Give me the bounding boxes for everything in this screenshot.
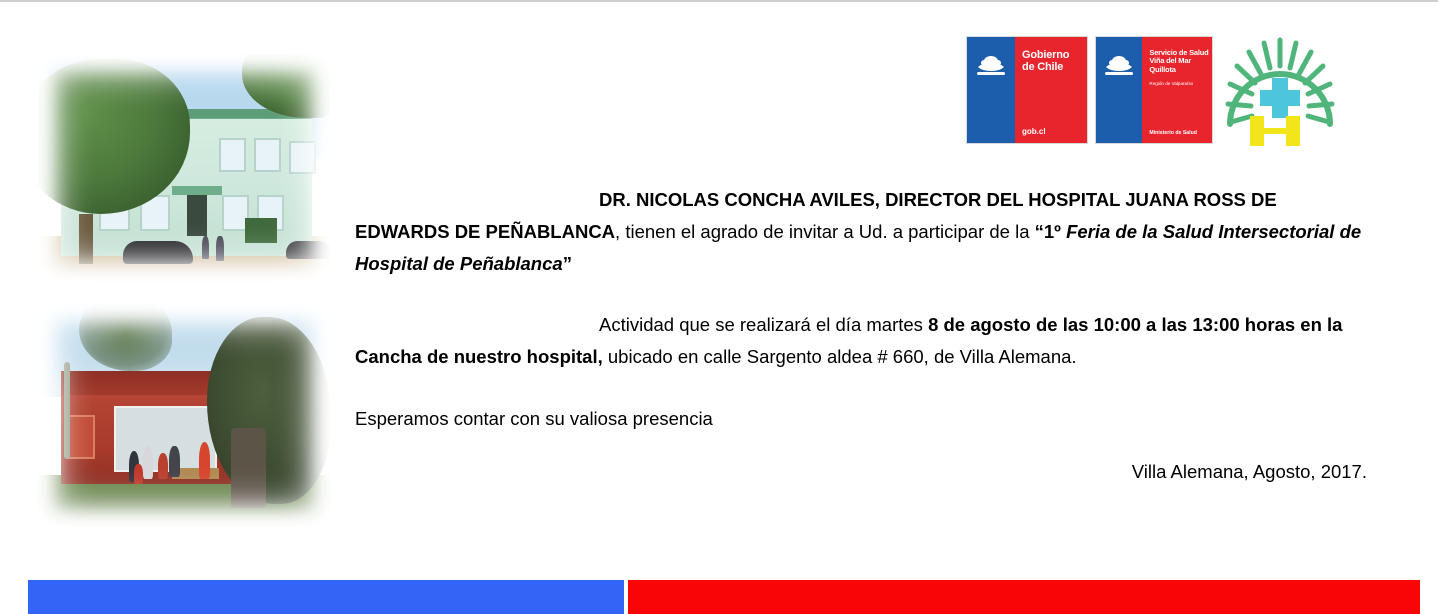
letter-h-icon [1250,116,1300,146]
color-bar-red-segment [628,580,1420,614]
invitation-body-text: DR. NICOLAS CONCHA AVILES, DIRECTOR DEL … [355,184,1367,435]
decorative-color-bar [28,580,1420,614]
logo-gobierno-de-chile: Gobiernode Chile gob.cl [966,36,1088,144]
flag-blue-panel [967,37,1015,143]
tree-trunk [79,214,94,264]
quote-close: ” [563,253,572,274]
photo-hospital-juana-ross-building [38,54,330,282]
window [254,138,281,172]
side-gate [245,218,277,243]
parked-car [286,241,330,259]
tree-trunk [231,428,266,508]
photo-hospital-penablanca-building [38,304,330,526]
logo-servicio-de-salud: Servicio de SaludViña del MarQuillota Re… [1095,36,1213,144]
activity-intro: Actividad que se realizará el día martes [599,314,928,335]
person [199,442,211,480]
logo-group: Gobiernode Chile gob.cl Servicio de Salu… [966,32,1342,150]
paragraph-invitation: DR. NICOLAS CONCHA AVILES, DIRECTOR DEL … [355,184,1367,279]
person [143,446,153,479]
person [216,236,224,261]
paragraph-closing: Esperamos contar con su valiosa presenci… [355,403,1367,435]
activity-address: ubicado en calle Sargento aldea # 660, d… [603,346,1077,367]
person [158,453,168,480]
person [202,236,210,259]
paragraph-spacer [355,373,1367,403]
photo-bottom-frame [38,304,330,526]
flag-red-panel: Gobiernode Chile gob.cl [1015,37,1087,143]
signature-line: Villa Alemana, Agosto, 2017. [355,461,1367,483]
quote-open: “1º [1035,221,1066,242]
logo-servicio-title: Servicio de SaludViña del MarQuillota [1149,49,1208,74]
parked-car [123,241,193,264]
paragraph-spacer [355,279,1367,309]
paragraph-activity-details: Actividad que se realizará el día martes… [355,309,1367,373]
bare-branch [64,362,70,460]
chile-coat-of-arms-icon [975,53,1007,79]
window [289,141,316,175]
document-page: Gobiernode Chile gob.cl Servicio de Salu… [0,2,1438,614]
flag-blue-panel [1096,37,1142,143]
color-bar-blue-segment [28,580,624,614]
invitation-middle-text: , tienen el agrado de invitar a Ud. a pa… [615,221,1035,242]
hospital-penablanca-logo-icon [1220,32,1340,150]
logo-servicio-footer: Ministerio de Salud [1149,130,1197,136]
entrance-door [187,195,207,236]
window [67,415,94,459]
entrance-awning [172,186,222,195]
person [169,446,179,477]
photo-top-frame [38,54,330,282]
logo-gobierno-title: Gobiernode Chile [1022,49,1069,74]
window [219,138,246,172]
chile-coat-of-arms-icon [1103,53,1135,79]
person [134,464,143,484]
logo-gobierno-footer: gob.cl [1022,127,1046,136]
logo-servicio-subtitle: Región de Valparaíso [1149,81,1193,87]
medical-cross-icon [1260,78,1300,118]
flag-red-panel: Servicio de SaludViña del MarQuillota Re… [1142,37,1212,143]
